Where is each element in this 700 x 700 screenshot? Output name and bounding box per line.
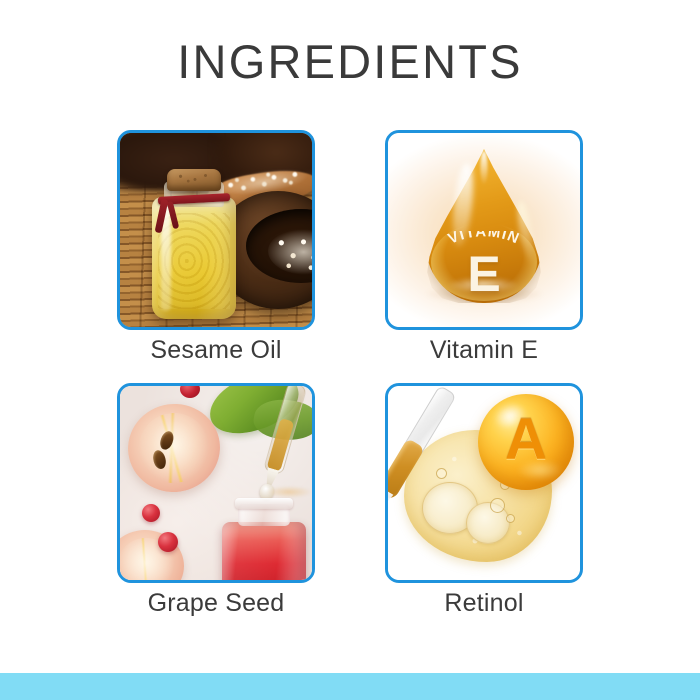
serum-bubble-5 [436, 468, 447, 479]
vitamin-a-sphere-icon: A [478, 394, 574, 490]
red-berry-3 [180, 383, 200, 398]
ingredient-label-vitamin-e: Vitamin E [385, 337, 583, 365]
ingredient-image-sesame-oil[interactable] [117, 130, 315, 330]
grape-seed-2 [151, 448, 167, 469]
ingredient-card-sesame-oil[interactable]: Sesame Oil [117, 130, 315, 365]
page-title: INGREDIENTS [0, 38, 700, 85]
ingredient-image-vitamin-e[interactable]: VITAMIN E [385, 130, 583, 330]
retinol-scene: A [388, 386, 580, 580]
sphere-letter: A [478, 394, 574, 490]
red-berry-1 [142, 504, 160, 522]
red-liquid-bottle [222, 496, 306, 583]
grape-seed-scene [120, 386, 312, 580]
red-bottle-lip [235, 498, 293, 509]
cork-stopper [167, 169, 221, 191]
ingredients-page: INGREDIENTS [0, 0, 700, 700]
vitamin-e-scene: VITAMIN E [388, 133, 580, 327]
serum-bubble-3 [490, 498, 505, 513]
ingredient-image-retinol[interactable]: A [385, 383, 583, 583]
serum-bubble-4 [506, 514, 515, 523]
droplet-letter: E [426, 249, 542, 299]
red-berry-2 [158, 532, 178, 552]
oil-droplet-icon: VITAMIN E [426, 149, 542, 303]
red-bottle-body [222, 522, 306, 583]
droplet-tip-highlight [481, 151, 488, 185]
ingredient-card-grape-seed[interactable]: Grape Seed [117, 383, 315, 618]
ingredient-card-retinol[interactable]: A Retinol [385, 383, 583, 618]
sesame-oil-bottle [152, 169, 236, 319]
grape-seed-1 [158, 429, 176, 451]
ingredient-label-grape-seed: Grape Seed [117, 590, 315, 618]
ingredient-card-vitamin-e[interactable]: VITAMIN E Vitamin E [385, 130, 583, 365]
bottom-accent-band [0, 673, 700, 700]
ingredient-label-sesame-oil: Sesame Oil [117, 337, 315, 365]
ingredients-grid: Sesame Oil [117, 130, 585, 617]
sesame-oil-scene [120, 133, 312, 327]
ingredient-image-grape-seed[interactable] [117, 383, 315, 583]
ingredient-label-retinol: Retinol [385, 590, 583, 618]
